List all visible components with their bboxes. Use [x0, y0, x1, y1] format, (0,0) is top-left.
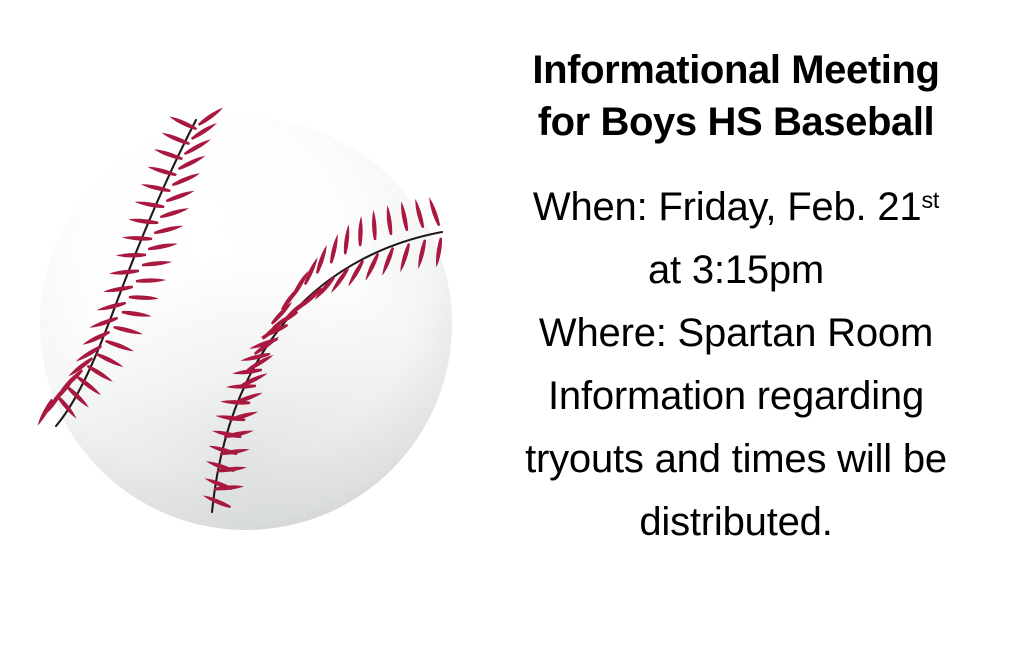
text-column: Informational Meeting for Boys HS Baseba…: [455, 44, 1017, 554]
detail-line-info-3: distributed.: [455, 491, 1017, 554]
detail-line-when: When: Friday, Feb. 21st: [455, 176, 1017, 239]
details-block: When: Friday, Feb. 21st at 3:15pm Where:…: [455, 176, 1017, 554]
detail-line-where: Where: Spartan Room: [455, 302, 1017, 365]
poster-canvas: Informational Meeting for Boys HS Baseba…: [0, 0, 1027, 664]
baseball-image: [28, 108, 464, 544]
detail-line-info-2: tryouts and times will be: [455, 428, 1017, 491]
page-title: Informational Meeting for Boys HS Baseba…: [455, 44, 1017, 148]
baseball-svg: [28, 108, 464, 544]
headline-line-2: for Boys HS Baseball: [455, 96, 1017, 148]
detail-line-time: at 3:15pm: [455, 239, 1017, 302]
headline-line-1: Informational Meeting: [455, 44, 1017, 96]
when-text: When: Friday, Feb. 21: [533, 185, 922, 229]
ordinal-suffix: st: [921, 187, 939, 213]
detail-line-info-1: Information regarding: [455, 365, 1017, 428]
